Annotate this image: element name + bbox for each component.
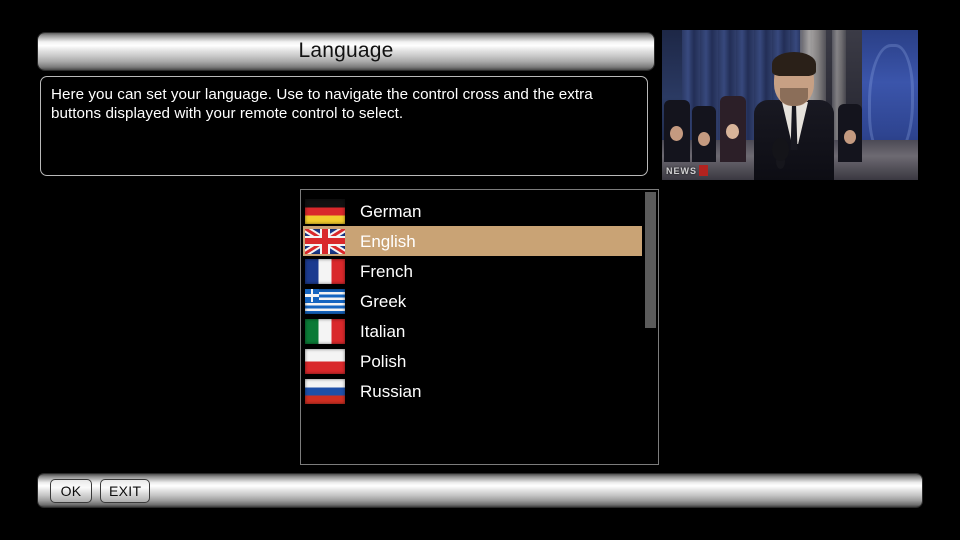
- ok-button[interactable]: OK: [50, 479, 92, 503]
- language-list-item[interactable]: French: [303, 256, 642, 286]
- language-list-item-label: German: [360, 203, 421, 220]
- flag-russia-icon: [305, 379, 345, 404]
- language-list-item[interactable]: English: [303, 226, 642, 256]
- language-list-item-label: Italian: [360, 323, 405, 340]
- video-crowd-head: [670, 126, 683, 141]
- video-preview[interactable]: NEWS: [662, 30, 918, 180]
- footer-action-bar: OK EXIT: [38, 474, 922, 507]
- flag-united-kingdom-icon: [305, 229, 345, 254]
- tv-settings-screen: Language Here you can set your language.…: [0, 0, 960, 540]
- video-crowd-head: [844, 130, 856, 144]
- language-list-item-label: English: [360, 233, 416, 250]
- language-list-item[interactable]: German: [303, 196, 642, 226]
- help-description-text: Here you can set your language. Use to n…: [51, 85, 637, 123]
- language-list-item[interactable]: Italian: [303, 316, 642, 346]
- channel-logo-badge: [699, 165, 708, 176]
- video-crowd-head: [698, 132, 710, 146]
- video-microphone: [772, 138, 789, 161]
- flag-germany-icon: [305, 199, 345, 224]
- language-list-item[interactable]: Polish: [303, 346, 642, 376]
- language-list[interactable]: GermanEnglishFrenchGreekItalianPolishRus…: [301, 190, 644, 464]
- help-description-box: Here you can set your language. Use to n…: [40, 76, 648, 176]
- video-reporter-beard: [780, 88, 808, 106]
- exit-button[interactable]: EXIT: [100, 479, 150, 503]
- language-list-item[interactable]: Greek: [303, 286, 642, 316]
- language-list-item-label: Russian: [360, 383, 421, 400]
- flag-greece-icon: [305, 289, 345, 314]
- language-list-item-label: Polish: [360, 353, 406, 370]
- video-reporter-hair: [772, 52, 816, 76]
- language-list-item[interactable]: Russian: [303, 376, 642, 406]
- video-crowd-head: [726, 124, 739, 139]
- page-title: Language: [298, 40, 393, 63]
- page-title-bar: Language: [38, 33, 654, 70]
- language-list-scrollbar[interactable]: [645, 192, 656, 464]
- flag-france-icon: [305, 259, 345, 284]
- language-list-panel: GermanEnglishFrenchGreekItalianPolishRus…: [300, 189, 659, 465]
- language-list-item-label: Greek: [360, 293, 406, 310]
- scrollbar-thumb[interactable]: [645, 192, 656, 328]
- language-list-item-label: French: [360, 263, 413, 280]
- channel-logo-text: NEWS: [666, 166, 697, 176]
- flag-italy-icon: [305, 319, 345, 344]
- flag-poland-icon: [305, 349, 345, 374]
- channel-logo: NEWS: [666, 165, 708, 176]
